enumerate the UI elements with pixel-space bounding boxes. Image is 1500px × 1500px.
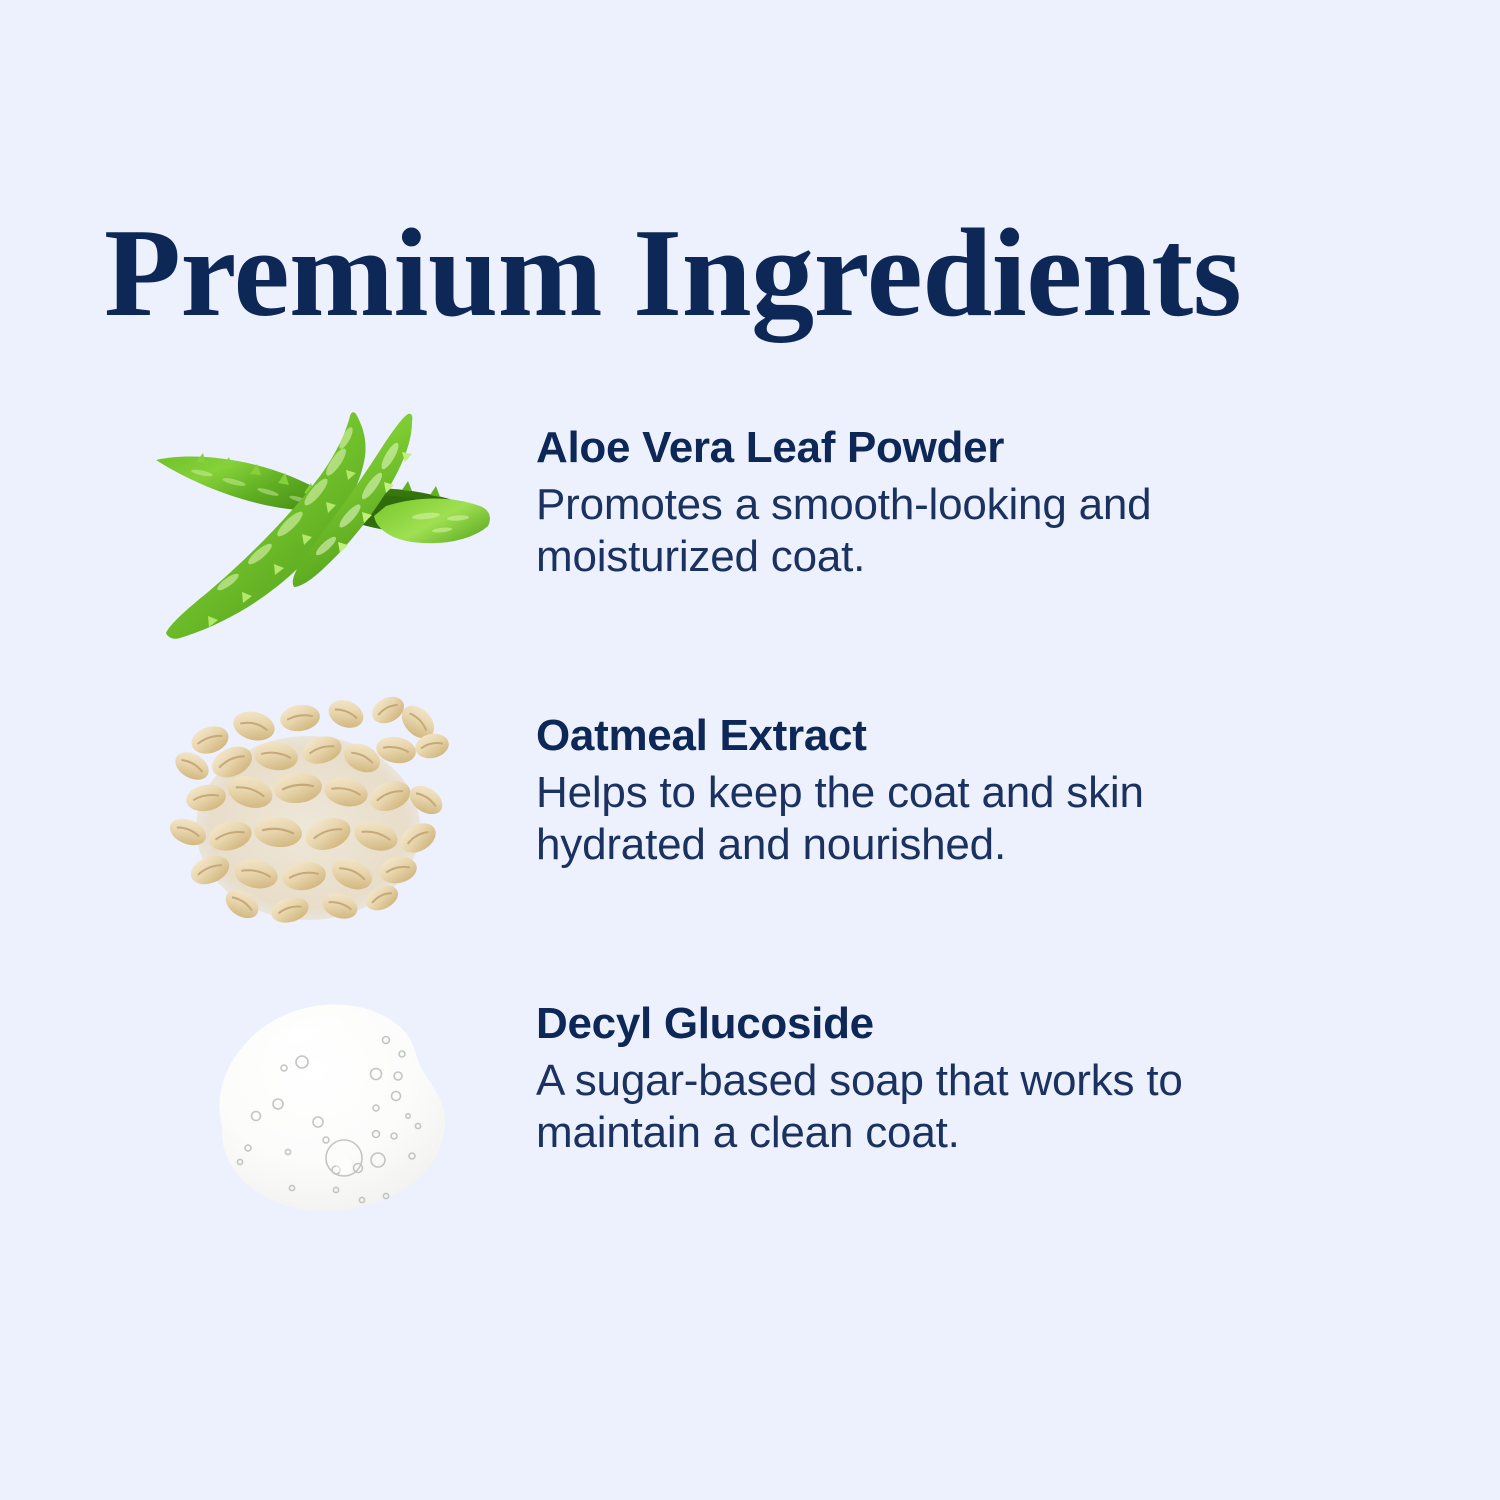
list-item: Decyl Glucoside A sugar-based soap that …: [150, 976, 1400, 1236]
list-item: Aloe Vera Leaf Powder Promotes a smooth-…: [150, 400, 1400, 660]
ingredient-text-block: Oatmeal Extract Helps to keep the coat a…: [490, 688, 1400, 872]
ingredient-name: Oatmeal Extract: [536, 712, 1400, 760]
ingredient-description: Helps to keep the coat and skin hydrated…: [536, 767, 1256, 873]
clear-gel-blob-icon: [150, 976, 490, 1236]
ingredients-page: Premium Ingredients: [0, 0, 1500, 1500]
aloe-vera-leaves-icon: [150, 400, 490, 660]
ingredient-text-block: Decyl Glucoside A sugar-based soap that …: [490, 976, 1400, 1160]
ingredient-description: Promotes a smooth-looking and moisturize…: [536, 479, 1256, 585]
ingredient-list: Aloe Vera Leaf Powder Promotes a smooth-…: [0, 0, 1500, 1500]
ingredient-text-block: Aloe Vera Leaf Powder Promotes a smooth-…: [490, 400, 1400, 584]
oatmeal-flakes-icon: [150, 688, 490, 948]
ingredient-name: Decyl Glucoside: [536, 1000, 1400, 1048]
ingredient-description: A sugar-based soap that works to maintai…: [536, 1055, 1256, 1161]
ingredient-name: Aloe Vera Leaf Powder: [536, 424, 1400, 472]
list-item: Oatmeal Extract Helps to keep the coat a…: [150, 688, 1400, 948]
